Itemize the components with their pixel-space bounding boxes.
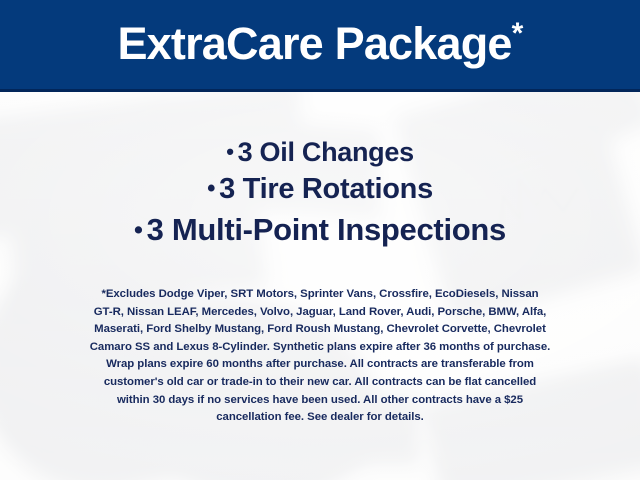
page-title-text: ExtraCare Package xyxy=(117,18,511,69)
disclaimer-line: GT-R, Nissan LEAF, Mercedes, Volvo, Jagu… xyxy=(28,304,612,322)
disclaimer-line: customer's old car or trade-in to their … xyxy=(28,374,612,392)
benefits-list: •3 Oil Changes •3 Tire Rotations •3 Mult… xyxy=(0,134,640,251)
bullet-icon: • xyxy=(207,175,215,202)
list-item-label: 3 Multi-Point Inspections xyxy=(147,212,506,247)
bullet-icon: • xyxy=(226,139,233,164)
header-band: ExtraCare Package* xyxy=(0,0,640,92)
disclaimer-line: Maserati, Ford Shelby Mustang, Ford Rous… xyxy=(28,321,612,339)
list-item-label: 3 Oil Changes xyxy=(238,137,414,167)
bullet-icon: • xyxy=(134,216,143,244)
list-item: •3 Tire Rotations xyxy=(0,170,640,209)
title-asterisk: * xyxy=(512,17,523,50)
disclaimer-line: within 30 days if no services have been … xyxy=(28,392,612,410)
list-item-label: 3 Tire Rotations xyxy=(219,173,433,205)
disclaimer-line: cancellation fee. See dealer for details… xyxy=(28,409,612,427)
list-item: •3 Multi-Point Inspections xyxy=(0,209,640,251)
extracare-package-banner: ExtraCare Package* •3 Oil Changes •3 Tir… xyxy=(0,0,640,480)
disclaimer-text: *Excludes Dodge Viper, SRT Motors, Sprin… xyxy=(28,286,612,427)
disclaimer-line: Wrap plans expire 60 months after purcha… xyxy=(28,356,612,374)
page-title: ExtraCare Package* xyxy=(117,21,522,66)
disclaimer-line: *Excludes Dodge Viper, SRT Motors, Sprin… xyxy=(28,286,612,304)
disclaimer-line: Camaro SS and Lexus 8-Cylinder. Syntheti… xyxy=(28,339,612,357)
list-item: •3 Oil Changes xyxy=(0,134,640,170)
